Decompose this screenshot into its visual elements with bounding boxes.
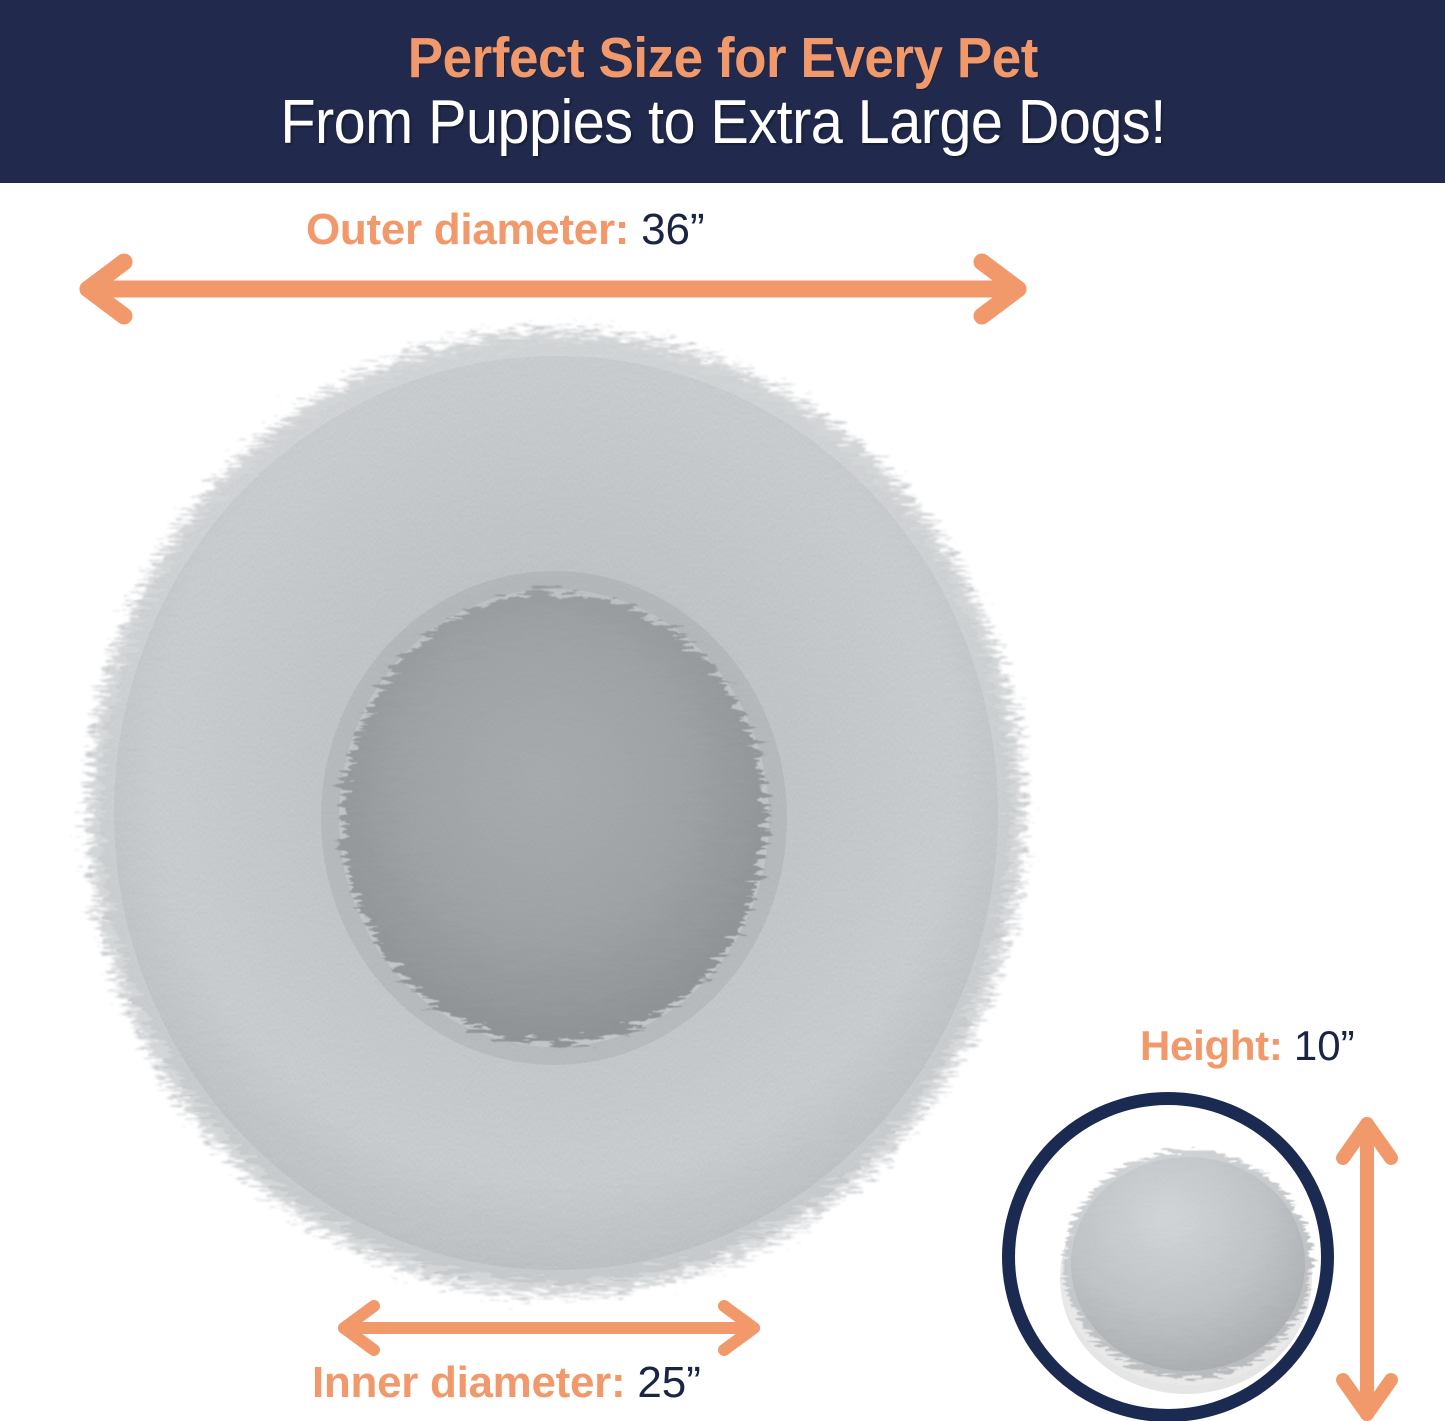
header-banner: Perfect Size for Every Pet From Puppies … — [0, 0, 1445, 183]
infographic-page: Perfect Size for Every Pet From Puppies … — [0, 0, 1445, 1421]
pet-bed-main-image — [66, 312, 1046, 1314]
headline-text: Perfect Size for Every Pet — [407, 29, 1037, 87]
height-arrow — [1336, 1112, 1398, 1421]
height-label: Height: 10” — [1140, 1022, 1355, 1070]
detail-circle-ring — [1002, 1092, 1334, 1421]
inner-diameter-label-text: Inner diameter: — [312, 1358, 625, 1407]
inner-diameter-arrow — [330, 1302, 768, 1354]
outer-diameter-label: Outer diameter: 36” — [306, 205, 705, 255]
outer-diameter-label-text: Outer diameter: — [306, 205, 629, 254]
bed-inner-cushion — [342, 592, 766, 1044]
inner-diameter-value: 25” — [637, 1358, 701, 1407]
outer-diameter-arrow — [68, 258, 1038, 320]
outer-diameter-value: 36” — [641, 205, 705, 254]
inner-diameter-label: Inner diameter: 25” — [312, 1358, 701, 1408]
height-label-text: Height: — [1140, 1022, 1283, 1069]
subheadline-text: From Puppies to Extra Large Dogs! — [280, 91, 1165, 154]
height-value: 10” — [1294, 1022, 1355, 1069]
height-detail-callout — [1002, 1092, 1334, 1421]
